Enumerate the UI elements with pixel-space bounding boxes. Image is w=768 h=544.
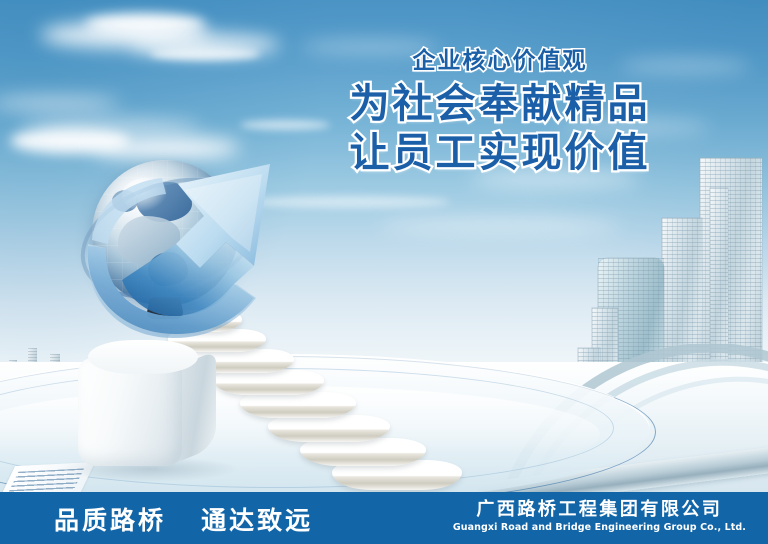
poster-canvas: 企业核心价值观 为社会奉献精品 让员工实现价值 — [0, 0, 768, 544]
headline-line-1: 为社会奉献精品 — [330, 80, 670, 129]
footer-slogan: 品质路桥 通达致远 — [54, 501, 313, 537]
company-name-en: Guangxi Road and Bridge Engineering Grou… — [453, 522, 746, 533]
company-block: 广西路桥工程集团有限公司 Guangxi Road and Bridge Eng… — [453, 498, 746, 533]
headline-kicker: 企业核心价值观 — [330, 48, 670, 74]
headline-line-2: 让员工实现价值 — [330, 129, 670, 178]
cube-pedestal — [78, 340, 216, 466]
company-name-cn: 广西路桥工程集团有限公司 — [453, 498, 746, 521]
blue-swoosh-arrow-icon — [58, 148, 308, 348]
footer-bar: 品质路桥 通达致远 广西路桥工程集团有限公司 Guangxi Road and … — [0, 492, 768, 544]
cube-front-face — [78, 358, 182, 466]
headline-block: 企业核心价值观 为社会奉献精品 让员工实现价值 — [330, 48, 670, 178]
